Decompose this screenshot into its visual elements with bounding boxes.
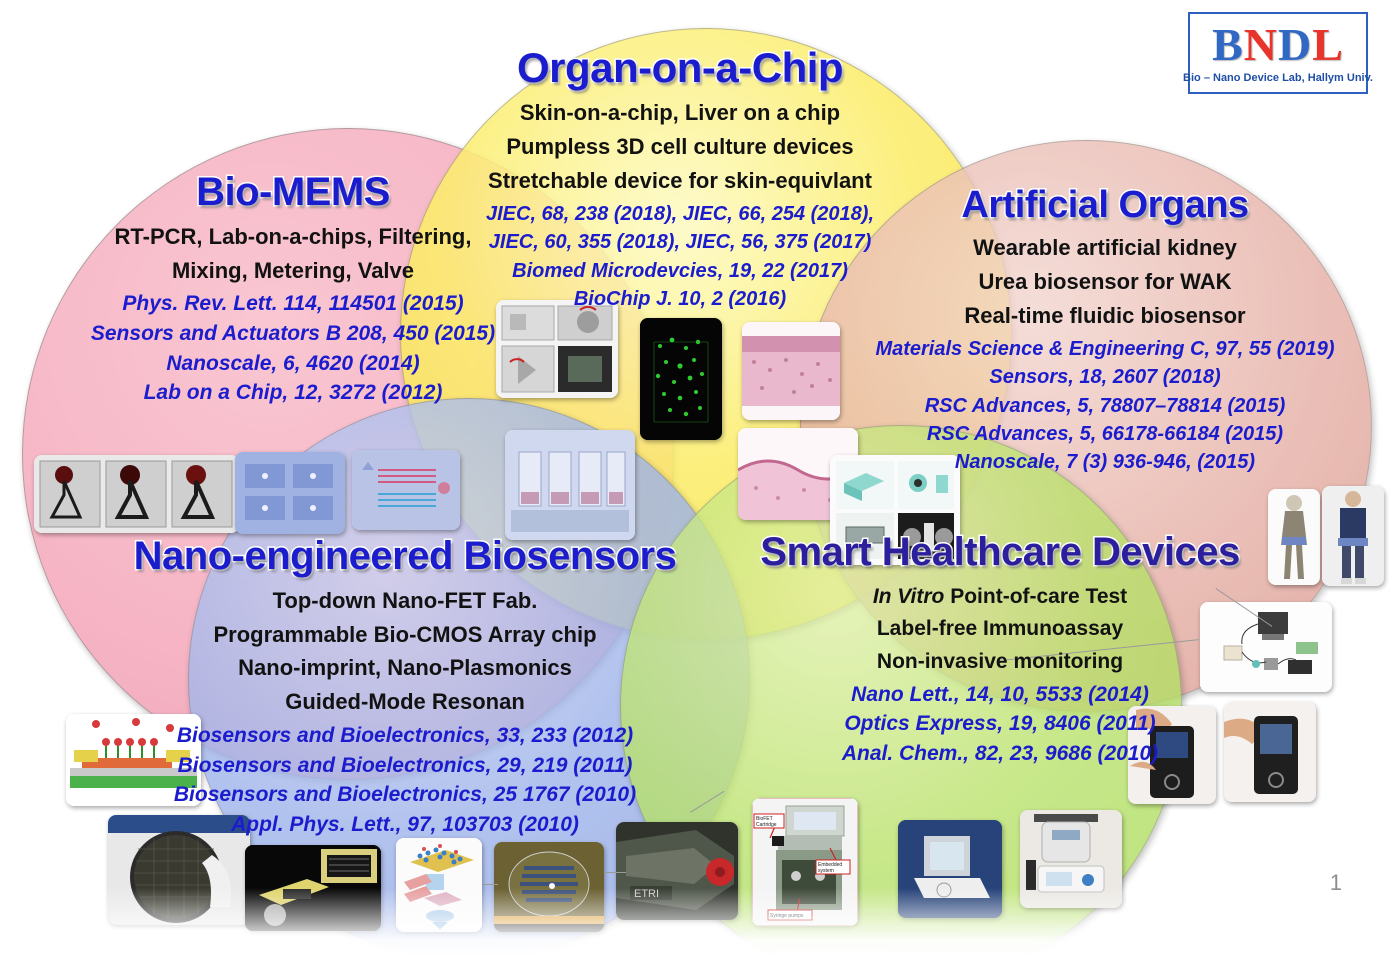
bio-mems-reference-4: Lab on a Chip, 12, 3272 (2012) <box>58 380 528 406</box>
nano-topic-3: Nano-imprint, Nano-Plasmonics <box>100 655 710 682</box>
blue-microfluidic-cartridge-photo <box>235 452 345 534</box>
green-fluorescence-3d-cell-image <box>640 318 722 440</box>
artificial-reference-1: Materials Science & Engineering C, 97, 5… <box>840 337 1370 361</box>
smart-healthcare-devices-text-block: Smart Healthcare Devices In Vitro Point-… <box>730 528 1270 770</box>
artificial-organs-text-block: Artificial Organs Wearable artificial ki… <box>840 182 1370 479</box>
smart-topic-2: Label-free Immunoassay <box>730 616 1270 642</box>
plasmonic-stack-icon <box>396 838 482 932</box>
bio-mems-reference-2: Sensors and Actuators B 208, 450 (2015) <box>58 321 528 347</box>
nano-engineered-biosensors-text-block: Nano-engineered Biosensors Top-down Nano… <box>100 532 710 842</box>
nano-reference-2: Biosensors and Bioelectronics, 29, 219 (… <box>100 753 710 779</box>
bio-mems-reference-3: Nanoscale, 6, 4620 (2014) <box>58 351 528 377</box>
gmr-chip-icon <box>494 842 604 932</box>
artificial-topic-1: Wearable artificial kidney <box>840 235 1370 262</box>
wearable-kidney-person-photo <box>1322 486 1384 586</box>
nano-reference-4: Appl. Phys. Lett., 97, 103703 (2010) <box>100 812 710 838</box>
bndl-wordmark: BNDL <box>1212 22 1344 68</box>
logo-letter-d: D <box>1278 19 1312 70</box>
logo-letter-n: N <box>1244 19 1278 70</box>
smart-topic-3: Non-invasive monitoring <box>730 649 1270 675</box>
skin-histology-pink-slide-1 <box>742 322 840 420</box>
artificial-topic-3: Real-time fluidic biosensor <box>840 303 1370 330</box>
benchtop-reader-icon <box>1020 810 1122 908</box>
cell-culture-flasks-icon <box>505 430 635 540</box>
nano-plasmonic-stack-schematic <box>396 838 482 932</box>
smart-reference-2: Optics Express, 19, 8406 (2011) <box>730 711 1270 737</box>
nano-topic-4: Guided-Mode Resonan <box>100 689 710 716</box>
logo-letter-l: L <box>1312 19 1344 70</box>
organ-on-a-chip-title: Organ-on-a-Chip <box>430 42 930 93</box>
yellow-chip-holder-photo <box>245 845 381 931</box>
organ-topic-2: Pumpless 3D cell culture devices <box>430 134 930 161</box>
artificial-organs-title: Artificial Organs <box>840 182 1370 228</box>
connector-line-plasmonic <box>482 884 498 885</box>
artificial-reference-2: Sensors, 18, 2607 (2018) <box>840 365 1370 389</box>
nano-reference-3: Biosensors and Bioelectronics, 25 1767 (… <box>100 782 710 808</box>
smart-topic-1-italic: In Vitro <box>873 585 945 608</box>
blue-cartridge-icon <box>235 452 345 534</box>
artificial-reference-4: RSC Advances, 5, 66178-66184 (2015) <box>840 422 1370 446</box>
smart-healthcare-title: Smart Healthcare Devices <box>730 528 1270 577</box>
poc-instrument-annotated-photo: BioFET Cartridge Embedded system Syringe… <box>752 798 858 926</box>
etri-cartridge-caption: ETRI <box>634 888 659 900</box>
blood-droplet-chip-array-photo <box>34 455 239 533</box>
fluorescence-cells-icon <box>640 318 722 440</box>
nano-biosensors-title: Nano-engineered Biosensors <box>100 532 710 581</box>
nano-reference-1: Biosensors and Bioelectronics, 33, 233 (… <box>100 723 710 749</box>
organ-topic-1: Skin-on-a-chip, Liver on a chip <box>430 100 930 127</box>
svg-text:system: system <box>818 868 834 874</box>
slide-canvas: ETRI BioFET Cartridge Embedded system <box>0 0 1400 958</box>
mannequin-icon <box>1268 489 1320 585</box>
smart-reference-1: Nano Lett., 14, 10, 5533 (2014) <box>730 682 1270 708</box>
portable-poc-analyzer-photo <box>898 820 1002 918</box>
nano-topic-1: Top-down Nano-FET Fab. <box>100 588 710 615</box>
svg-text:Cartridge: Cartridge <box>756 822 777 828</box>
logo-letter-b: B <box>1212 19 1244 70</box>
portable-analyzer-icon <box>898 820 1002 918</box>
artificial-topic-2: Urea biosensor for WAK <box>840 269 1370 296</box>
bndl-logo: BNDL Bio – Nano Device Lab, Hallym Univ. <box>1188 12 1368 94</box>
skin-histology-icon-1 <box>742 322 840 420</box>
person-back-icon <box>1322 486 1384 586</box>
yellow-chip-holder-icon <box>245 845 381 931</box>
smart-reference-3: Anal. Chem., 82, 23, 9686 (2010) <box>730 741 1270 767</box>
svg-text:Syringe pumps: Syringe pumps <box>770 913 804 919</box>
smart-topic-1-rest: Point-of-care Test <box>944 585 1127 608</box>
wearable-kidney-mannequin-photo <box>1268 489 1320 585</box>
artificial-reference-5: Nanoscale, 7 (3) 936-946, (2015) <box>840 450 1370 474</box>
guided-mode-resonance-chip-photo <box>494 842 604 932</box>
blood-droplet-chip-array-icon <box>34 455 239 533</box>
etri-microfluidic-chip-photo <box>352 450 460 530</box>
poc-instrument-icon: BioFET Cartridge Embedded system Syringe… <box>752 798 858 926</box>
benchtop-reader-photo <box>1020 810 1122 908</box>
connector-line-gmr <box>604 872 626 873</box>
cell-culture-flasks-photo <box>505 430 635 540</box>
bndl-logo-tagline: Bio – Nano Device Lab, Hallym Univ. <box>1183 72 1373 84</box>
artificial-reference-3: RSC Advances, 5, 78807–78814 (2015) <box>840 394 1370 418</box>
page-number: 1 <box>1330 870 1342 896</box>
nano-topic-2: Programmable Bio-CMOS Array chip <box>100 622 710 649</box>
smart-topic-1: In Vitro Point-of-care Test <box>730 584 1270 610</box>
etri-chip-icon <box>352 450 460 530</box>
